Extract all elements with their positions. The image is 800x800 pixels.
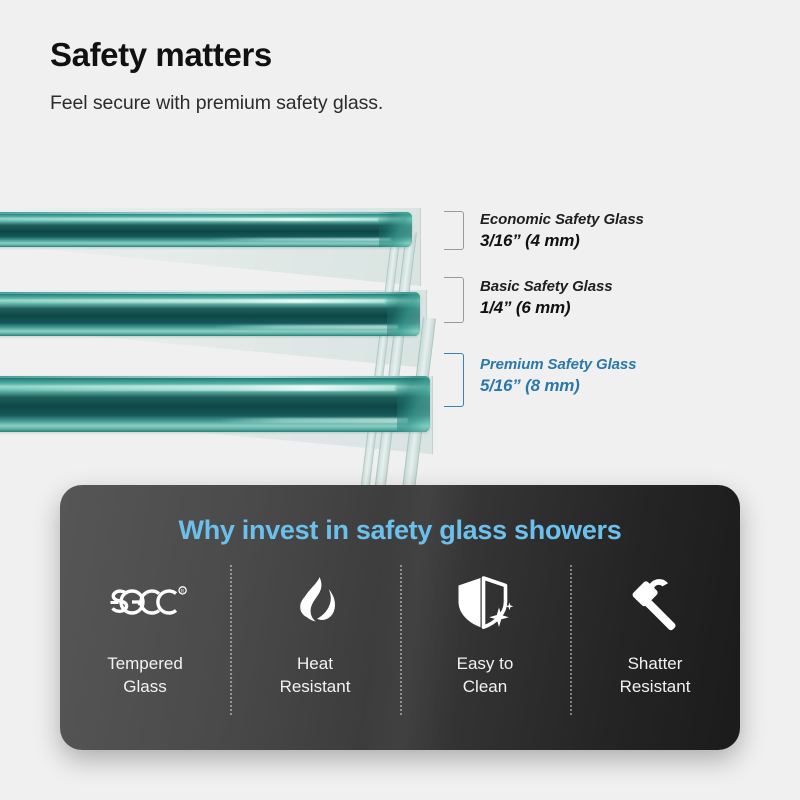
page-subtitle: Feel secure with premium safety glass. (50, 92, 750, 115)
glass-edge-specular-streak (5, 218, 378, 222)
callout-glass-size: 5/16” (8 mm) (480, 375, 636, 397)
glass-edge-highlight (0, 376, 430, 378)
callout-glass-name: Economic Safety Glass (480, 211, 644, 230)
hammer-icon (576, 573, 734, 635)
sgcc-certification-icon: R (66, 573, 224, 635)
page-header: Safety matters Feel secure with premium … (50, 36, 750, 115)
callout-glass-size: 3/16” (4 mm) (480, 230, 644, 252)
glass-edge-chamfer (387, 292, 420, 336)
glass-edge-highlight (0, 212, 412, 214)
glass-edge-specular-streak (5, 299, 385, 303)
glass-edge-specular-streak-lower (208, 238, 390, 241)
callout-bracket-basic (444, 277, 464, 323)
feature-label: Easy to Clean (406, 653, 564, 699)
feature-item-tempered-glass: R Tempered Glass (60, 573, 230, 699)
glass-edge-specular-streak (6, 385, 395, 391)
callout-glass-name: Premium Safety Glass (480, 356, 636, 375)
callout-label-economic: Economic Safety Glass 3/16” (4 mm) (480, 211, 644, 252)
glass-edge-specular-streak-lower (213, 325, 399, 329)
glass-thickness-illustration (0, 180, 470, 510)
feature-label: Tempered Glass (66, 653, 224, 699)
glass-slab-economic (0, 212, 412, 247)
glass-slab-edge-premium (0, 376, 430, 432)
feature-card: Why invest in safety glass showers (60, 485, 740, 750)
flame-icon (236, 573, 394, 635)
feature-list: R Tempered Glass Heat Resistant (60, 573, 740, 699)
callout-bracket-economic (444, 211, 464, 250)
glass-slab-basic (0, 292, 420, 336)
glass-slab-edge-economic (0, 212, 412, 247)
callout-glass-name: Basic Safety Glass (480, 278, 612, 297)
callout-bracket-premium (444, 353, 464, 407)
feature-label: Shatter Resistant (576, 653, 734, 699)
glass-slab-edge-basic (0, 292, 420, 336)
feature-item-shatter-resistant: Shatter Resistant (570, 573, 740, 699)
glass-edge-specular-streak-lower (218, 418, 408, 423)
glass-edge-chamfer (397, 376, 430, 432)
callout-label-premium: Premium Safety Glass 5/16” (8 mm) (480, 356, 636, 397)
card-title: Why invest in safety glass showers (60, 515, 740, 546)
callout-label-basic: Basic Safety Glass 1/4” (6 mm) (480, 278, 612, 319)
glass-edge-highlight (0, 292, 420, 294)
feature-item-heat-resistant: Heat Resistant (230, 573, 400, 699)
callout-glass-size: 1/4” (6 mm) (480, 297, 612, 319)
page-title: Safety matters (50, 36, 750, 75)
feature-item-easy-to-clean: Easy to Clean (400, 573, 570, 699)
glass-slab-premium (0, 376, 430, 432)
glass-edge-chamfer (379, 212, 412, 247)
feature-label: Heat Resistant (236, 653, 394, 699)
shield-sparkle-icon (406, 573, 564, 635)
